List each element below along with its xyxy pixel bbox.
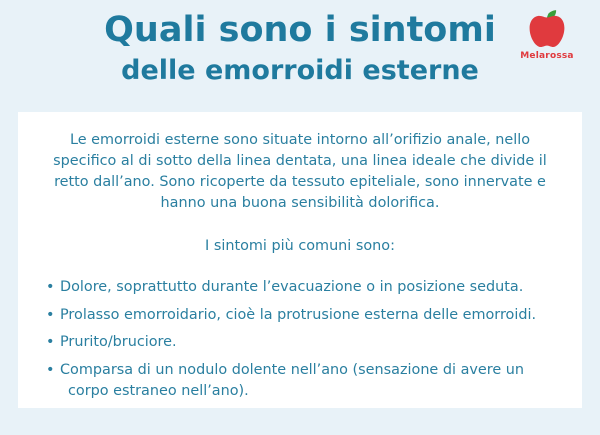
bullet-icon: • [46,332,55,354]
bullet-icon: • [46,277,55,299]
list-item-text: Dolore, soprattutto durante l’evacuazion… [60,279,523,295]
list-item-text: Prurito/bruciore. [60,334,177,350]
infographic-page: Quali sono i sintomi delle emorroidi est… [0,0,600,435]
list-item: • Prolasso emorroidario, cioè la protrus… [46,305,560,327]
apple-icon [525,6,569,50]
symptom-list: • Dolore, soprattutto durante l’evacuazi… [46,277,560,403]
brand-wordmark: Melarossa [512,51,582,61]
list-item: • Comparsa di un nodulo dolente nell’ano… [46,360,560,403]
page-title-line-2: delle emorroidi esterne [0,52,600,88]
list-item-text: Comparsa di un nodulo dolente nell’ano (… [60,362,524,378]
header: Quali sono i sintomi delle emorroidi est… [0,0,600,88]
bullet-icon: • [46,305,55,327]
brand-logo: Melarossa [512,6,582,61]
content-card: Le emorroidi esterne sono situate intorn… [18,112,582,408]
bullet-icon: • [46,360,55,382]
lead-text: I sintomi più comuni sono: [40,236,560,257]
list-item: • Prurito/bruciore. [46,332,560,354]
list-item: • Dolore, soprattutto durante l’evacuazi… [46,277,560,299]
list-item-text: Prolasso emorroidario, cioè la protrusio… [60,307,536,323]
intro-paragraph: Le emorroidi esterne sono situate intorn… [46,130,554,214]
list-item-text-continued: corpo estraneo nell’ano). [60,381,560,403]
page-title-line-1: Quali sono i sintomi [0,8,600,52]
